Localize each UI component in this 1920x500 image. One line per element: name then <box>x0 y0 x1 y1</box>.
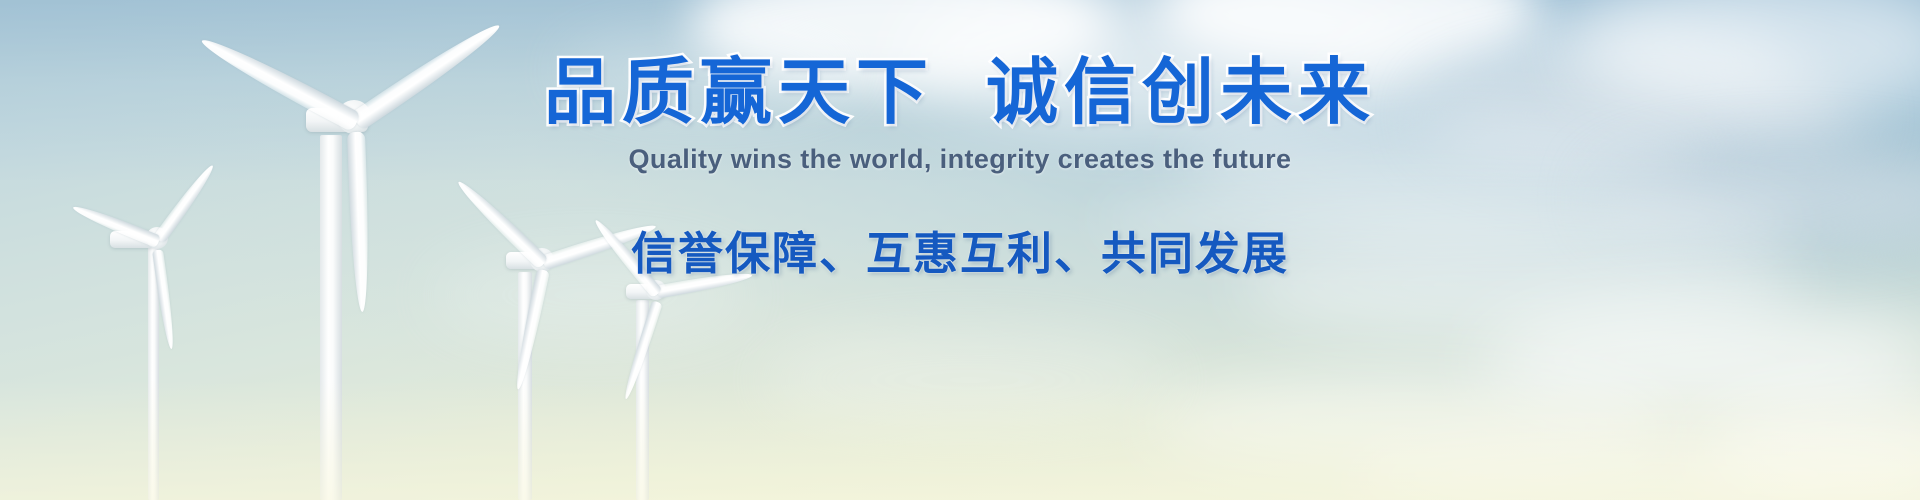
promotional-banner: 品质赢天下 诚信创未来 Quality wins the world, inte… <box>0 0 1920 500</box>
